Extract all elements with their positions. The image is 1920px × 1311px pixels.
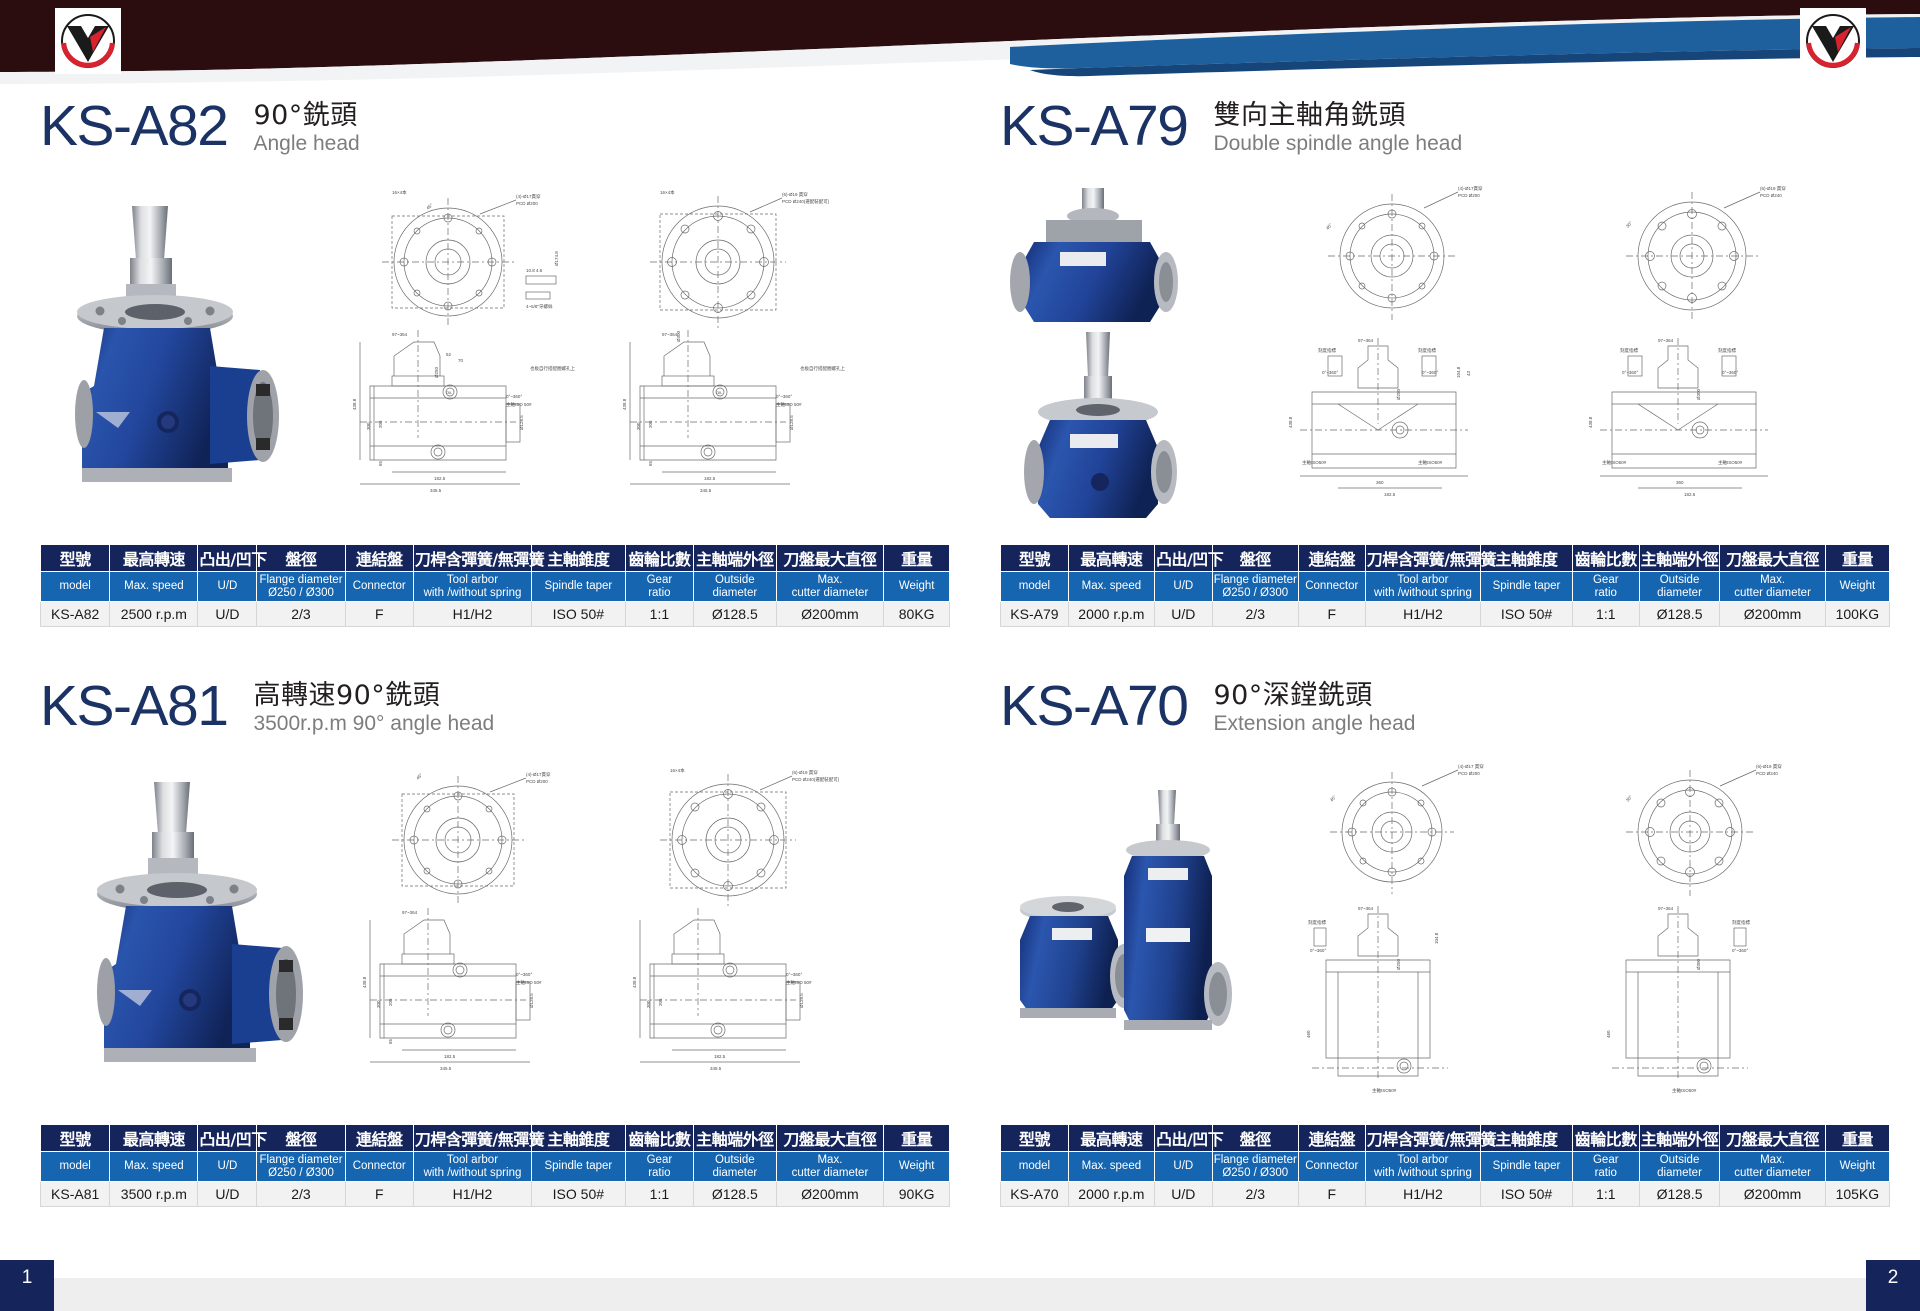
th-en-2: U/D — [198, 1152, 257, 1182]
product-block-ks-a79: KS-A79 雙向主軸角銑頭 Double spindle angle head — [1000, 96, 1890, 627]
svg-text:97~364: 97~364 — [662, 332, 678, 337]
svg-text:0°~360°: 0°~360° — [1310, 948, 1326, 953]
cell-flange-diameter: 2/3 — [1212, 602, 1298, 627]
product-title-cn: 90°銑頭 — [253, 100, 359, 131]
th-cn-4: 連結盤 — [1298, 545, 1365, 572]
cad-drawings-ks-a79: (4)-Ø17貫穿 PCD Ø200 45° (6)-Ø19 貫穿 — [1272, 178, 1890, 538]
logo-y-mark-icon — [1804, 12, 1862, 70]
cell-tool-arbor: H1/H2 — [413, 1182, 531, 1207]
th-en-2: U/D — [1154, 572, 1212, 602]
page-number-right: 2 — [1866, 1260, 1920, 1311]
table-header-row-en: model Max. speed U/D Flange diameterØ250… — [1001, 572, 1890, 602]
product-title-en: Extension angle head — [1213, 711, 1415, 736]
svg-text:104.8: 104.8 — [1434, 932, 1439, 944]
product-photo — [1000, 764, 1260, 1114]
product-model-name: KS-A81 — [40, 676, 227, 736]
svg-text:也板自行搭配圈螺孔上: 也板自行搭配圈螺孔上 — [530, 365, 575, 372]
product-title-cn: 高轉速90°銑頭 — [253, 680, 494, 711]
svg-text:Ø174.8: Ø174.8 — [554, 251, 559, 266]
cell-model: KS-A79 — [1001, 602, 1069, 627]
extension-angle-head-photo-ks-a70 — [1000, 764, 1260, 1114]
cell-max-speed: 2500 r.p.m — [110, 602, 198, 627]
svg-text:Ø128.5: Ø128.5 — [789, 415, 794, 430]
th-cn-2: 凸出/凹下 — [1154, 545, 1212, 572]
th-cn-3: 盤徑 — [257, 545, 345, 572]
svg-text:Ø250: Ø250 — [434, 366, 439, 378]
svg-text:45°: 45° — [1329, 794, 1337, 803]
svg-text:(6)-Ø19 貫穿: (6)-Ø19 貫穿 — [782, 191, 808, 198]
svg-text:PCD Ø240: PCD Ø240 — [1760, 193, 1782, 198]
cell-spindle-taper: ISO 50# — [532, 1182, 626, 1207]
svg-text:主軸ISO50#: 主軸ISO50# — [1372, 1087, 1397, 1094]
header-swoosh-graphic — [0, 0, 1920, 84]
svg-text:438.8: 438.8 — [352, 398, 357, 410]
svg-text:主軸ISO 50#: 主軸ISO 50# — [776, 401, 802, 408]
svg-text:0°~360°: 0°~360° — [516, 972, 532, 977]
svg-text:182.5: 182.5 — [714, 1054, 726, 1059]
svg-text:PCD Ø200: PCD Ø200 — [516, 201, 538, 206]
svg-text:205: 205 — [388, 998, 393, 1006]
cell-ud: U/D — [198, 602, 257, 627]
th-en-1: Max. speed — [1068, 1152, 1154, 1182]
th-en-4: Connector — [1298, 1152, 1365, 1182]
svg-text:PCD Ø240(選配裝配可): PCD Ø240(選配裝配可) — [782, 198, 830, 205]
svg-text:30°: 30° — [1625, 220, 1633, 229]
th-en-5: Tool arborwith /without spring — [1365, 1152, 1480, 1182]
cell-gear-ratio: 1:1 — [1572, 1182, 1639, 1207]
th-cn-1: 最高轉速 — [110, 1125, 198, 1152]
svg-text:104.8: 104.8 — [1456, 366, 1461, 378]
cell-outside-diameter: Ø128.5 — [1639, 602, 1720, 627]
product-title-row: KS-A70 90°深鏜銑頭 Extension angle head — [1000, 676, 1890, 748]
page-footer: 1 2 — [0, 1250, 1920, 1311]
svg-text:主軸ISO50#: 主軸ISO50# — [1718, 459, 1743, 466]
th-en-5: Tool arborwith /without spring — [413, 1152, 531, 1182]
svg-text:45°: 45° — [425, 202, 434, 210]
cell-weight: 100KG — [1825, 602, 1889, 627]
svg-text:主軸ISO 50#: 主軸ISO 50# — [516, 979, 542, 986]
product-photo — [60, 188, 310, 528]
cell-outside-diameter: Ø128.5 — [694, 602, 776, 627]
th-cn-8: 主軸端外徑 — [1639, 1125, 1720, 1152]
technical-drawing-group: (4)-Ø17貫穿 PCD Ø200 45° (6)-Ø19 貫穿 — [1272, 178, 1890, 538]
svg-text:主軸ISO50#: 主軸ISO50# — [1672, 1087, 1697, 1094]
cell-ud: U/D — [1154, 602, 1212, 627]
angle-head-photo-ks-a82 — [60, 188, 310, 528]
cell-spindle-taper: ISO 50# — [1481, 602, 1573, 627]
th-cn-9: 刀盤最大直徑 — [1720, 1125, 1825, 1152]
svg-text:Ø250: Ø250 — [1396, 388, 1401, 400]
th-cn-8: 主軸端外徑 — [694, 1125, 776, 1152]
th-en-8: Outsidediameter — [1639, 1152, 1720, 1182]
svg-text:460: 460 — [1606, 1030, 1611, 1038]
th-cn-2: 凸出/凹下 — [1154, 1125, 1212, 1152]
svg-text:Ø300: Ø300 — [1696, 388, 1701, 400]
th-en-6: Spindle taper — [532, 572, 626, 602]
svg-text:345.5: 345.5 — [700, 488, 712, 493]
svg-text:Ø128.5: Ø128.5 — [519, 415, 524, 430]
th-en-9: Max.cutter diameter — [1720, 572, 1825, 602]
cell-model: KS-A82 — [41, 602, 110, 627]
svg-text:PCD Ø240: PCD Ø240 — [1756, 771, 1778, 776]
svg-text:(4)-Ø17貫穿: (4)-Ø17貫穿 — [1458, 185, 1483, 192]
svg-text:45°: 45° — [415, 772, 423, 780]
th-cn-3: 盤徑 — [257, 1125, 345, 1152]
table-header-row-cn: 型號 最高轉速 凸出/凹下 盤徑 連結盤 刀桿含彈簧/無彈簧 主軸錐度 齒輪比數… — [41, 1125, 950, 1152]
svg-text:205: 205 — [648, 420, 653, 428]
th-cn-8: 主軸端外徑 — [694, 545, 776, 572]
table-row: KS-A81 3500 r.p.m U/D 2/3 F H1/H2 ISO 50… — [41, 1182, 950, 1207]
svg-text:0°~360°: 0°~360° — [1722, 370, 1738, 375]
svg-text:52: 52 — [446, 352, 452, 357]
cell-flange-diameter: 2/3 — [257, 602, 345, 627]
svg-text:(6)-Ø19 貫穿: (6)-Ø19 貫穿 — [1760, 185, 1786, 192]
th-en-6: Spindle taper — [1481, 1152, 1573, 1182]
svg-text:97~364: 97~364 — [1658, 338, 1674, 343]
cell-spindle-taper: ISO 50# — [532, 602, 626, 627]
cell-flange-diameter: 2/3 — [257, 1182, 345, 1207]
svg-text:0°~360°: 0°~360° — [1422, 370, 1438, 375]
cell-connector: F — [345, 1182, 413, 1207]
th-cn-10: 重量 — [884, 1125, 950, 1152]
svg-text:Ø250: Ø250 — [1396, 958, 1401, 970]
th-cn-7: 齒輪比數 — [1572, 1125, 1639, 1152]
th-cn-0: 型號 — [1001, 545, 1069, 572]
th-cn-10: 重量 — [1825, 1125, 1889, 1152]
cell-max-cutter-diameter: Ø200mm — [776, 602, 884, 627]
cell-flange-diameter: 2/3 — [1212, 1182, 1298, 1207]
svg-text:PCD Ø240(選配裝配可): PCD Ø240(選配裝配可) — [792, 776, 840, 783]
th-en-3: Flange diameterØ250 / Ø300 — [1212, 1152, 1298, 1182]
th-cn-4: 連結盤 — [345, 1125, 413, 1152]
th-cn-5: 刀桿含彈簧/無彈簧 — [413, 1125, 531, 1152]
svg-text:刻度指標: 刻度指標 — [1732, 919, 1750, 926]
product-photo — [80, 768, 330, 1108]
th-en-7: Gearratio — [625, 1152, 693, 1182]
svg-text:主軸ISO 50#: 主軸ISO 50# — [786, 979, 812, 986]
technical-drawing-group: (4)-Ø17貫穿 PCD Ø200 45° (6)-Ø19 貫穿 — [340, 758, 950, 1116]
svg-text:205: 205 — [658, 998, 663, 1006]
svg-text:205: 205 — [378, 420, 383, 428]
product-media-area: (4)-Ø17貫穿 PCD Ø200 16×4本 45° 4~5/8"牙螺絲 Ø… — [40, 174, 950, 544]
svg-text:PCD Ø200: PCD Ø200 — [1458, 193, 1480, 198]
th-cn-1: 最高轉速 — [110, 545, 198, 572]
svg-text:97~364: 97~364 — [1658, 906, 1674, 911]
svg-text:OIL: OIL — [716, 390, 723, 395]
th-en-7: Gearratio — [625, 572, 693, 602]
product-media-area: (4)-Ø17貫穿 PCD Ø200 45° (6)-Ø19 貫穿 — [1000, 174, 1890, 544]
th-cn-2: 凸出/凹下 — [198, 545, 257, 572]
page-number-left: 1 — [0, 1260, 54, 1311]
th-cn-0: 型號 — [41, 545, 110, 572]
svg-text:刻度指標: 刻度指標 — [1718, 347, 1736, 354]
svg-text:345.5: 345.5 — [710, 1066, 722, 1071]
svg-text:97~364: 97~364 — [1358, 338, 1374, 343]
svg-text:主軸ISO50#: 主軸ISO50# — [1302, 459, 1327, 466]
th-en-3: Flange diameterØ250 / Ø300 — [257, 572, 345, 602]
svg-text:主軸ISO50#: 主軸ISO50# — [1602, 459, 1627, 466]
product-title-en: Angle head — [253, 131, 359, 156]
svg-text:OIL: OIL — [446, 390, 453, 395]
spec-table-ks-a81: 型號 最高轉速 凸出/凹下 盤徑 連結盤 刀桿含彈簧/無彈簧 主軸錐度 齒輪比數… — [40, 1124, 950, 1207]
product-photo — [1000, 182, 1260, 532]
spec-table-ks-a79: 型號 最高轉速 凸出/凹下 盤徑 連結盤 刀桿含彈簧/無彈簧 主軸錐度 齒輪比數… — [1000, 544, 1890, 627]
double-spindle-head-photo-ks-a79 — [1000, 182, 1260, 532]
svg-text:300: 300 — [366, 422, 371, 430]
cell-tool-arbor: H1/H2 — [1365, 602, 1480, 627]
product-model-name: KS-A70 — [1000, 676, 1187, 736]
cell-connector: F — [1298, 1182, 1365, 1207]
cell-max-cutter-diameter: Ø200mm — [1720, 1182, 1825, 1207]
th-en-7: Gearratio — [1572, 572, 1639, 602]
product-block-ks-a81: KS-A81 高轉速90°銑頭 3500r.p.m 90° angle head — [40, 676, 950, 1207]
th-en-2: U/D — [1154, 1152, 1212, 1182]
th-en-8: Outsidediameter — [694, 1152, 776, 1182]
th-cn-4: 連結盤 — [345, 545, 413, 572]
th-en-6: Spindle taper — [1481, 572, 1573, 602]
cell-max-cutter-diameter: Ø200mm — [1720, 602, 1825, 627]
svg-text:97~364: 97~364 — [402, 910, 418, 915]
svg-text:16×4本: 16×4本 — [392, 189, 407, 196]
th-cn-9: 刀盤最大直徑 — [1720, 545, 1825, 572]
svg-text:Ø128.5: Ø128.5 — [529, 993, 534, 1008]
th-en-4: Connector — [345, 1152, 413, 1182]
svg-text:刻度指標: 刻度指標 — [1620, 347, 1638, 354]
svg-text:0°~360°: 0°~360° — [506, 394, 522, 399]
svg-text:PCD Ø200: PCD Ø200 — [1458, 771, 1480, 776]
th-cn-10: 重量 — [884, 545, 950, 572]
cell-weight: 80KG — [884, 602, 950, 627]
th-cn-5: 刀桿含彈簧/無彈簧 — [1365, 1125, 1480, 1152]
th-en-8: Outsidediameter — [694, 572, 776, 602]
svg-text:主軸ISO50#: 主軸ISO50# — [1418, 459, 1443, 466]
svg-text:Ø300: Ø300 — [1696, 958, 1701, 970]
th-cn-2: 凸出/凹下 — [198, 1125, 257, 1152]
svg-text:0°~360°: 0°~360° — [1322, 370, 1338, 375]
cell-gear-ratio: 1:1 — [1572, 602, 1639, 627]
svg-text:(4)-Ø17貫穿: (4)-Ø17貫穿 — [526, 771, 551, 778]
svg-text:刻度指標: 刻度指標 — [1418, 347, 1436, 354]
table-header-row-en: model Max. speed U/D Flange diameterØ250… — [41, 1152, 950, 1182]
svg-text:345.5: 345.5 — [430, 488, 442, 493]
svg-text:300: 300 — [636, 422, 641, 430]
th-cn-1: 最高轉速 — [1068, 545, 1154, 572]
cell-tool-arbor: H1/H2 — [1365, 1182, 1480, 1207]
th-en-10: Weight — [884, 1152, 950, 1182]
cell-tool-arbor: H1/H2 — [413, 602, 531, 627]
product-block-ks-a82: KS-A82 90°銑頭 Angle head — [40, 96, 950, 627]
svg-text:438.8: 438.8 — [1288, 416, 1293, 428]
svg-text:182.5: 182.5 — [704, 476, 716, 481]
th-en-5: Tool arborwith /without spring — [413, 572, 531, 602]
th-en-9: Max.cutter diameter — [1720, 1152, 1825, 1182]
catalog-page-spread: KS-A82 90°銑頭 Angle head — [0, 0, 1920, 1311]
product-title-en: Double spindle angle head — [1213, 131, 1462, 156]
cell-connector: F — [345, 602, 413, 627]
th-en-0: model — [1001, 572, 1069, 602]
th-en-0: model — [41, 1152, 110, 1182]
th-en-9: Max.cutter diameter — [776, 572, 884, 602]
th-en-1: Max. speed — [1068, 572, 1154, 602]
cell-gear-ratio: 1:1 — [625, 602, 693, 627]
svg-text:Ø128.5: Ø128.5 — [799, 993, 804, 1008]
th-en-2: U/D — [198, 572, 257, 602]
cell-max-speed: 3500 r.p.m — [110, 1182, 198, 1207]
svg-text:182.5: 182.5 — [1384, 492, 1396, 497]
table-header-row-en: model Max. speed U/D Flange diameterØ250… — [41, 572, 950, 602]
svg-text:300: 300 — [646, 1000, 651, 1008]
th-cn-9: 刀盤最大直徑 — [776, 1125, 884, 1152]
svg-text:182.5: 182.5 — [434, 476, 446, 481]
th-cn-1: 最高轉速 — [1068, 1125, 1154, 1152]
technical-drawing-group: (4)-Ø17 貫穿 PCD Ø200 45° (6)-Ø19 貫穿 — [1272, 758, 1890, 1118]
svg-text:460: 460 — [1306, 1030, 1311, 1038]
logo-y-mark-icon — [59, 12, 117, 70]
svg-text:65: 65 — [388, 1038, 393, 1044]
svg-text:182.5: 182.5 — [1684, 492, 1696, 497]
header-banner — [0, 0, 1920, 84]
product-block-ks-a70: KS-A70 90°深鏜銑頭 Extension angle head — [1000, 676, 1890, 1207]
svg-text:16×4本: 16×4本 — [670, 767, 685, 774]
cell-ud: U/D — [198, 1182, 257, 1207]
product-title-row: KS-A79 雙向主軸角銑頭 Double spindle angle head — [1000, 96, 1890, 168]
th-en-1: Max. speed — [110, 1152, 198, 1182]
th-en-6: Spindle taper — [532, 1152, 626, 1182]
angle-head-photo-ks-a81 — [80, 768, 330, 1108]
svg-text:也板自行搭配圈螺孔上: 也板自行搭配圈螺孔上 — [800, 365, 845, 372]
svg-text:345.5: 345.5 — [440, 1066, 452, 1071]
table-row: KS-A70 2000 r.p.m U/D 2/3 F H1/H2 ISO 50… — [1001, 1182, 1890, 1207]
th-en-1: Max. speed — [110, 572, 198, 602]
svg-text:360: 360 — [1676, 480, 1684, 485]
th-cn-3: 盤徑 — [1212, 1125, 1298, 1152]
svg-text:10.8 4.6: 10.8 4.6 — [526, 268, 543, 273]
svg-text:(4)-Ø17貫穿: (4)-Ø17貫穿 — [516, 193, 541, 200]
svg-text:(4)-Ø17 貫穿: (4)-Ø17 貫穿 — [1458, 763, 1484, 770]
svg-text:70: 70 — [458, 358, 464, 363]
th-en-8: Outsidediameter — [1639, 572, 1720, 602]
cell-outside-diameter: Ø128.5 — [694, 1182, 776, 1207]
th-cn-0: 型號 — [41, 1125, 110, 1152]
product-model-name: KS-A82 — [40, 96, 227, 156]
svg-text:182.5: 182.5 — [444, 1054, 456, 1059]
cell-weight: 90KG — [884, 1182, 950, 1207]
svg-text:刻度指標: 刻度指標 — [1308, 919, 1326, 926]
cell-gear-ratio: 1:1 — [625, 1182, 693, 1207]
th-cn-5: 刀桿含彈簧/無彈簧 — [1365, 545, 1480, 572]
svg-text:0°~360°: 0°~360° — [786, 972, 802, 977]
svg-text:45°: 45° — [1325, 222, 1333, 231]
company-logo-right — [1800, 8, 1866, 74]
svg-text:PCD Ø200: PCD Ø200 — [526, 779, 548, 784]
svg-text:300: 300 — [376, 1000, 381, 1008]
cell-max-speed: 2000 r.p.m — [1068, 1182, 1154, 1207]
company-logo-left — [55, 8, 121, 74]
th-cn-6: 主軸錐度 — [532, 1125, 626, 1152]
th-en-9: Max.cutter diameter — [776, 1152, 884, 1182]
cad-drawings-ks-a81: (4)-Ø17貫穿 PCD Ø200 45° (6)-Ø19 貫穿 — [340, 758, 950, 1116]
svg-text:65: 65 — [378, 460, 383, 466]
svg-text:(6)-Ø19 貫穿: (6)-Ø19 貫穿 — [1756, 763, 1782, 770]
th-en-5: Tool arborwith /without spring — [1365, 572, 1480, 602]
th-en-4: Connector — [345, 572, 413, 602]
product-model-name: KS-A79 — [1000, 96, 1187, 156]
svg-text:4~5/8"牙螺絲: 4~5/8"牙螺絲 — [526, 303, 553, 310]
cell-ud: U/D — [1154, 1182, 1212, 1207]
svg-text:360: 360 — [1376, 480, 1384, 485]
th-cn-6: 主軸錐度 — [532, 545, 626, 572]
product-title-row: KS-A81 高轉速90°銑頭 3500r.p.m 90° angle head — [40, 676, 950, 748]
th-cn-0: 型號 — [1001, 1125, 1069, 1152]
cell-max-cutter-diameter: Ø200mm — [776, 1182, 884, 1207]
th-en-7: Gearratio — [1572, 1152, 1639, 1182]
svg-text:16×4本: 16×4本 — [660, 189, 675, 196]
th-cn-7: 齒輪比數 — [625, 545, 693, 572]
footer-gray-bar — [0, 1278, 1920, 1311]
th-cn-8: 主軸端外徑 — [1639, 545, 1720, 572]
th-cn-9: 刀盤最大直徑 — [776, 545, 884, 572]
th-en-10: Weight — [1825, 1152, 1889, 1182]
product-title-row: KS-A82 90°銑頭 Angle head — [40, 96, 950, 168]
svg-text:主軸ISO 50#: 主軸ISO 50# — [506, 401, 532, 408]
table-row: KS-A79 2000 r.p.m U/D 2/3 F H1/H2 ISO 50… — [1001, 602, 1890, 627]
svg-text:97~364: 97~364 — [1358, 906, 1374, 911]
cell-connector: F — [1298, 602, 1365, 627]
cell-max-speed: 2000 r.p.m — [1068, 602, 1154, 627]
cell-model: KS-A81 — [41, 1182, 110, 1207]
cad-drawings-ks-a70: (4)-Ø17 貫穿 PCD Ø200 45° (6)-Ø19 貫穿 — [1272, 758, 1890, 1118]
th-en-0: model — [1001, 1152, 1069, 1182]
cell-spindle-taper: ISO 50# — [1481, 1182, 1573, 1207]
th-en-10: Weight — [884, 572, 950, 602]
cell-model: KS-A70 — [1001, 1182, 1069, 1207]
svg-text:65: 65 — [648, 460, 653, 466]
th-en-0: model — [41, 572, 110, 602]
product-title-en: 3500r.p.m 90° angle head — [253, 711, 494, 736]
th-cn-10: 重量 — [1825, 545, 1889, 572]
svg-text:30°: 30° — [1625, 794, 1633, 803]
svg-text:0°~360°: 0°~360° — [1732, 948, 1748, 953]
svg-text:438.8: 438.8 — [622, 398, 627, 410]
th-en-4: Connector — [1298, 572, 1365, 602]
product-media-area: (4)-Ø17貫穿 PCD Ø200 45° (6)-Ø19 貫穿 — [40, 754, 950, 1124]
cell-weight: 105KG — [1825, 1182, 1889, 1207]
svg-text:438.8: 438.8 — [632, 976, 637, 988]
table-row: KS-A82 2500 r.p.m U/D 2/3 F H1/H2 ISO 50… — [41, 602, 950, 627]
th-cn-7: 齒輪比數 — [1572, 545, 1639, 572]
th-cn-3: 盤徑 — [1212, 545, 1298, 572]
svg-text:0°~360°: 0°~360° — [1622, 370, 1638, 375]
technical-drawing-group: (4)-Ø17貫穿 PCD Ø200 16×4本 45° 4~5/8"牙螺絲 Ø… — [330, 180, 940, 538]
svg-text:刻度指標: 刻度指標 — [1318, 347, 1336, 354]
th-en-3: Flange diameterØ250 / Ø300 — [1212, 572, 1298, 602]
svg-text:43: 43 — [1466, 370, 1471, 376]
svg-text:438.8: 438.8 — [1588, 416, 1593, 428]
spec-table-ks-a70: 型號 最高轉速 凸出/凹下 盤徑 連結盤 刀桿含彈簧/無彈簧 主軸錐度 齒輪比數… — [1000, 1124, 1890, 1207]
cell-outside-diameter: Ø128.5 — [1639, 1182, 1720, 1207]
svg-text:0°~360°: 0°~360° — [776, 394, 792, 399]
th-cn-5: 刀桿含彈簧/無彈簧 — [413, 545, 531, 572]
th-cn-7: 齒輪比數 — [625, 1125, 693, 1152]
svg-text:438.8: 438.8 — [362, 976, 367, 988]
cad-drawings-ks-a82: (4)-Ø17貫穿 PCD Ø200 16×4本 45° 4~5/8"牙螺絲 Ø… — [330, 180, 940, 538]
svg-text:(6)-Ø19 貫穿: (6)-Ø19 貫穿 — [792, 769, 818, 776]
table-header-row-cn: 型號 最高轉速 凸出/凹下 盤徑 連結盤 刀桿含彈簧/無彈簧 主軸錐度 齒輪比數… — [41, 545, 950, 572]
product-media-area: (4)-Ø17 貫穿 PCD Ø200 45° (6)-Ø19 貫穿 — [1000, 754, 1890, 1124]
table-header-row-en: model Max. speed U/D Flange diameterØ250… — [1001, 1152, 1890, 1182]
th-en-10: Weight — [1825, 572, 1889, 602]
th-cn-4: 連結盤 — [1298, 1125, 1365, 1152]
